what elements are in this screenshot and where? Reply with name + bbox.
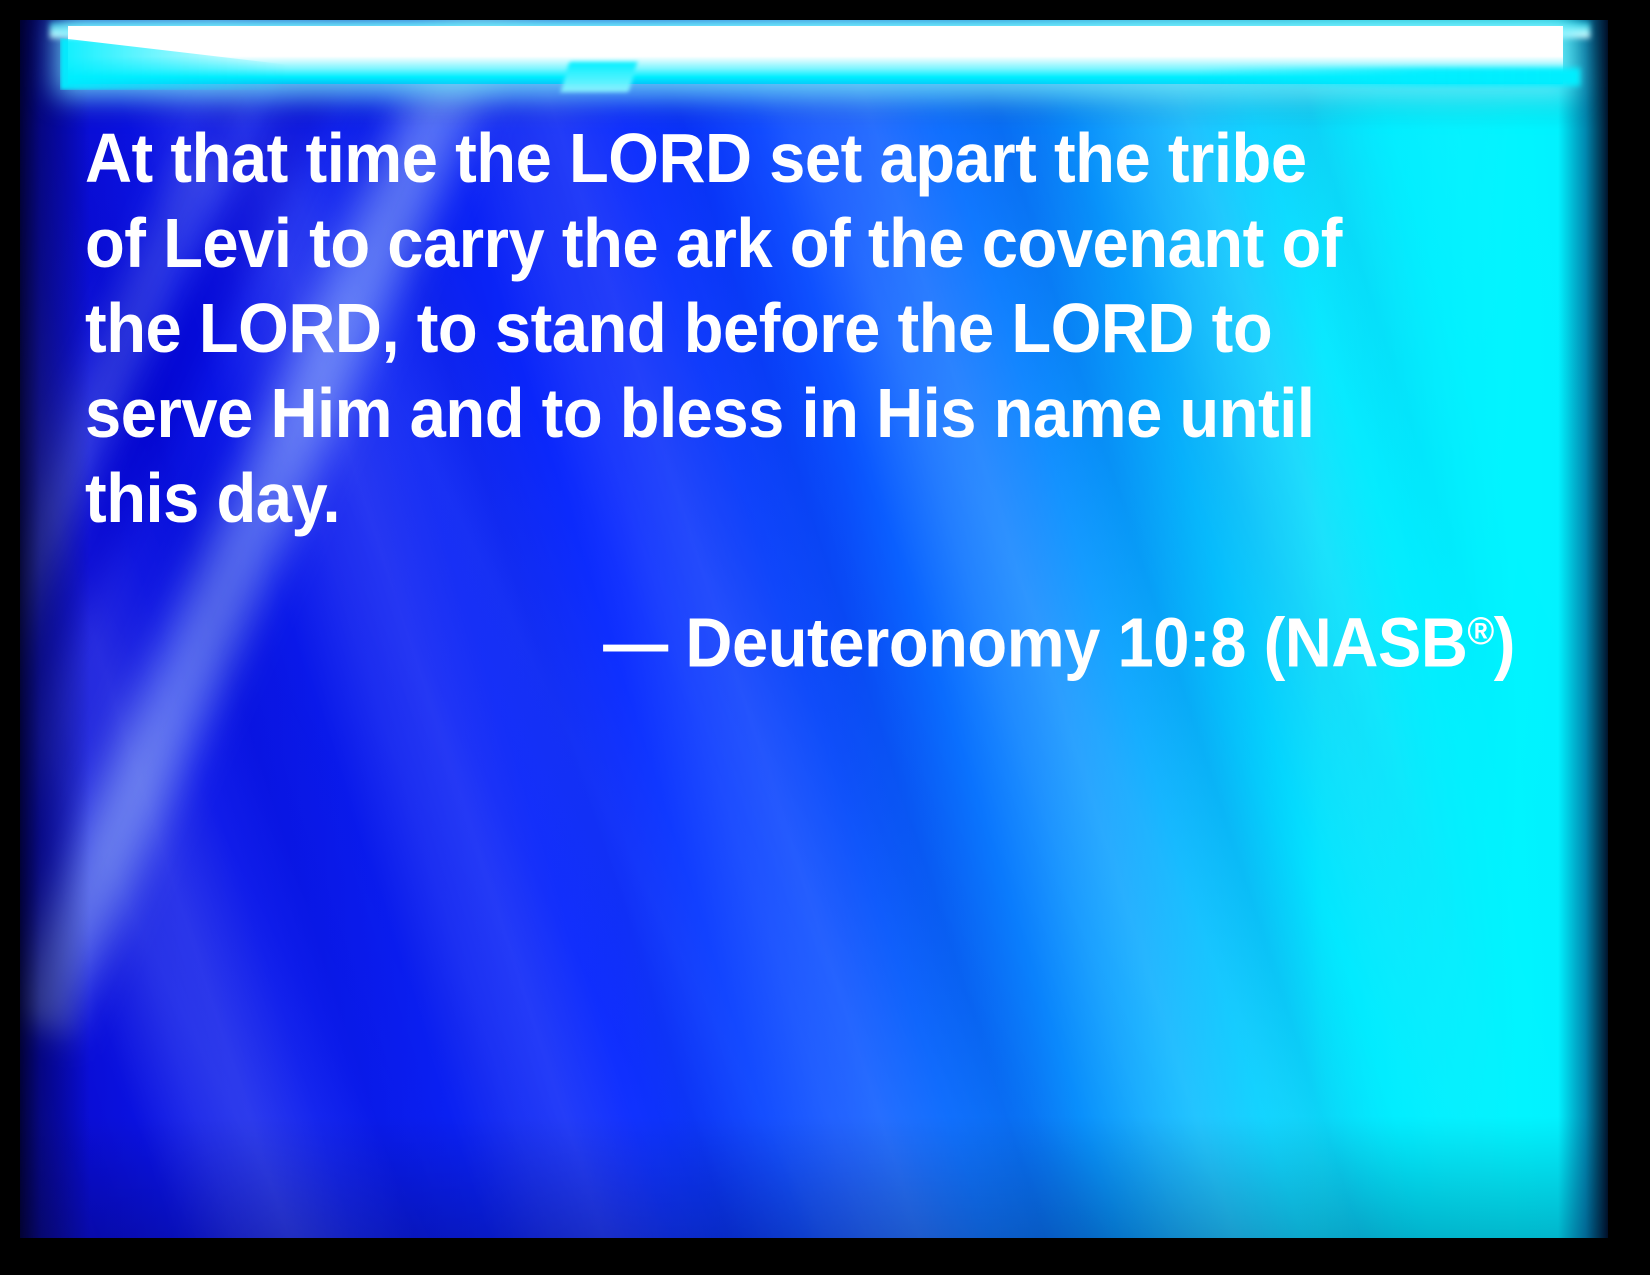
- top-glow-nub: [561, 62, 638, 92]
- left-edge-shadow: [20, 20, 90, 1238]
- attribution-dash: —: [603, 604, 668, 682]
- attribution-reference: 10:8: [1118, 604, 1246, 682]
- right-edge-shadow: [1558, 20, 1608, 1238]
- attribution-book: Deuteronomy: [685, 604, 1099, 682]
- verse-line-2: of Levi to carry the ark of the covenant…: [85, 201, 1415, 286]
- verse-text-block: At that time the LORD set apart the trib…: [85, 116, 1515, 686]
- verse-attribution: — Deuteronomy 10:8 (NASB®): [185, 541, 1515, 686]
- attribution-translation-open: (NASB: [1264, 604, 1468, 682]
- attribution-translation-close: ): [1494, 604, 1515, 682]
- scripture-slide: At that time the LORD set apart the trib…: [0, 0, 1650, 1275]
- verse-line-5: this day.: [85, 456, 1415, 541]
- verse-line-3: the LORD, to stand before the LORD to: [85, 286, 1415, 371]
- registered-trademark-icon: ®: [1467, 610, 1493, 653]
- top-glow-right-tail: [1200, 68, 1580, 86]
- verse-line-1: At that time the LORD set apart the trib…: [85, 116, 1415, 201]
- slide-panel: At that time the LORD set apart the trib…: [20, 20, 1608, 1238]
- verse-line-4: serve Him and to bless in His name until: [85, 371, 1415, 456]
